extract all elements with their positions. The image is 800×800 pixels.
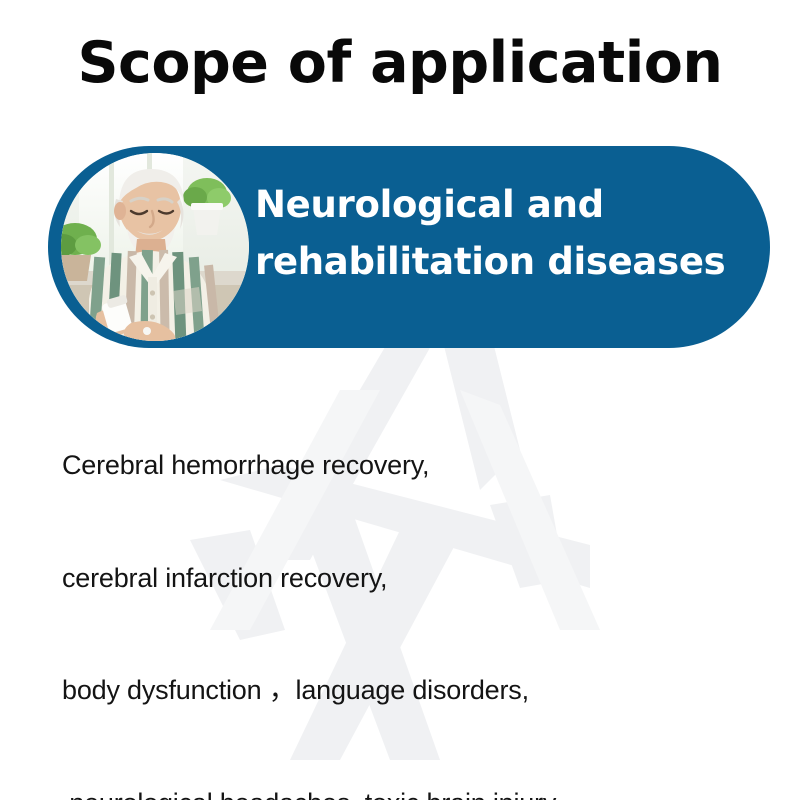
indications-line: Cerebral hemorrhage recovery, [62,447,792,485]
banner-heading-line-1: Neurological and [255,176,756,233]
indications-line: neurological headaches, toxic brain inju… [62,785,792,800]
product-info-card: Scope of application [0,0,800,800]
banner-heading-line-2: rehabilitation diseases [255,233,756,290]
page-title: Scope of application [0,28,800,98]
indications-line: body dysfunction ，language disorders, [62,672,792,710]
indications-line: cerebral infarction recovery, [62,560,792,598]
banner-heading: Neurological and rehabilitation diseases [255,176,756,290]
indications-list: Cerebral hemorrhage recovery, cerebral i… [62,372,792,800]
elderly-patient-photo [61,153,249,341]
category-banner: Neurological and rehabilitation diseases [48,146,770,348]
